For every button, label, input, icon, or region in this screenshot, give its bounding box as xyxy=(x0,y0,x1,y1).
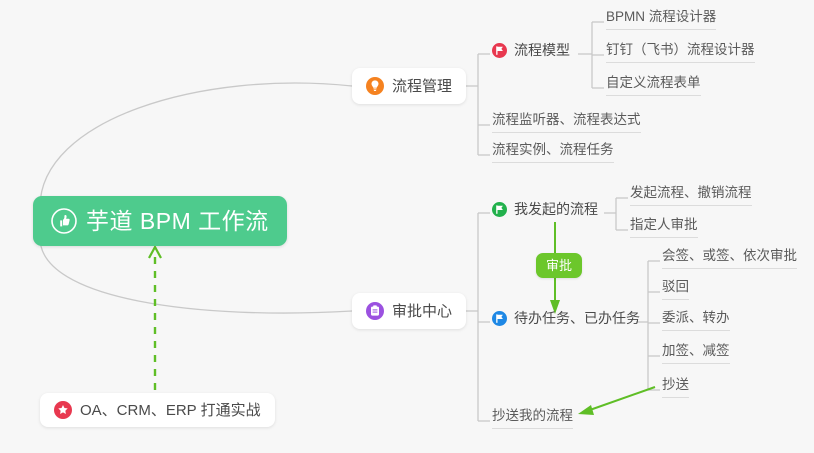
node-custom-process-form-label: 自定义流程表单 xyxy=(606,76,701,91)
node-todo-done-task[interactable]: 待办任务、已办任务 xyxy=(492,311,640,330)
node-process-instance-task[interactable]: 流程实例、流程任务 xyxy=(492,143,614,163)
lightbulb-icon xyxy=(366,77,384,95)
annotation-badge-approval-label: 审批 xyxy=(546,258,572,273)
node-process-model[interactable]: 流程模型 xyxy=(492,43,570,62)
link-root-to-process-management xyxy=(40,83,352,207)
node-add-remove-sign-label: 加签、减签 xyxy=(662,344,730,359)
node-add-remove-sign[interactable]: 加签、减签 xyxy=(662,344,730,364)
node-bpmn-designer[interactable]: BPMN 流程设计器 xyxy=(606,10,716,30)
flag-icon xyxy=(492,202,507,217)
node-oa-crm-erp-label: OA、CRM、ERP 打通实战 xyxy=(80,403,261,418)
node-reject[interactable]: 驳回 xyxy=(662,280,689,300)
node-process-listener-expression[interactable]: 流程监听器、流程表达式 xyxy=(492,113,641,133)
node-process-management-label: 流程管理 xyxy=(392,79,452,94)
node-oa-crm-erp[interactable]: OA、CRM、ERP 打通实战 xyxy=(40,393,275,427)
node-cc-to-me-process-label: 抄送我的流程 xyxy=(492,409,573,424)
node-approval-center[interactable]: 审批中心 xyxy=(352,293,466,329)
link-root-to-approval-center xyxy=(40,238,352,313)
node-process-model-label: 流程模型 xyxy=(514,43,570,58)
node-process-management[interactable]: 流程管理 xyxy=(352,68,466,104)
star-icon xyxy=(54,401,72,419)
node-countersign-label: 会签、或签、依次审批 xyxy=(662,249,797,264)
node-delegate-transfer-label: 委派、转办 xyxy=(662,311,730,326)
node-process-listener-expression-label: 流程监听器、流程表达式 xyxy=(492,113,641,128)
node-start-cancel-process[interactable]: 发起流程、撤销流程 xyxy=(630,186,752,206)
annotation-arrow-footer-to-root xyxy=(149,247,161,390)
clipboard-icon xyxy=(366,302,384,320)
node-process-instance-task-label: 流程实例、流程任务 xyxy=(492,143,614,158)
annotation-badge-approval: 审批 xyxy=(536,253,582,278)
node-start-cancel-process-label: 发起流程、撤销流程 xyxy=(630,186,752,201)
node-my-started-process[interactable]: 我发起的流程 xyxy=(492,202,598,221)
mindmap-canvas: 芋道 BPM 工作流 流程管理 流程模型 流程监听器、流程表达式 流程实例、流程… xyxy=(0,0,814,453)
node-assignee-approval-label: 指定人审批 xyxy=(630,218,698,233)
flag-icon xyxy=(492,311,507,326)
node-dingtalk-feishu-designer[interactable]: 钉钉（飞书）流程设计器 xyxy=(606,43,755,63)
node-carbon-copy-label: 抄送 xyxy=(662,378,689,393)
node-assignee-approval[interactable]: 指定人审批 xyxy=(630,218,698,238)
node-cc-to-me-process[interactable]: 抄送我的流程 xyxy=(492,409,573,429)
node-bpmn-designer-label: BPMN 流程设计器 xyxy=(606,10,716,25)
node-dingtalk-feishu-designer-label: 钉钉（飞书）流程设计器 xyxy=(606,43,755,58)
node-countersign[interactable]: 会签、或签、依次审批 xyxy=(662,249,797,269)
node-reject-label: 驳回 xyxy=(662,280,689,295)
node-my-started-process-label: 我发起的流程 xyxy=(514,202,598,217)
annotation-arrow-cc-to-ccme xyxy=(578,387,655,415)
root-node[interactable]: 芋道 BPM 工作流 xyxy=(33,196,287,246)
node-custom-process-form[interactable]: 自定义流程表单 xyxy=(606,76,701,96)
node-delegate-transfer[interactable]: 委派、转办 xyxy=(662,311,730,331)
node-todo-done-task-label: 待办任务、已办任务 xyxy=(514,311,640,326)
node-approval-center-label: 审批中心 xyxy=(392,304,452,319)
node-carbon-copy[interactable]: 抄送 xyxy=(662,378,689,398)
flag-icon xyxy=(492,43,507,58)
thumbs-up-icon xyxy=(51,208,77,234)
root-node-label: 芋道 BPM 工作流 xyxy=(86,210,269,233)
